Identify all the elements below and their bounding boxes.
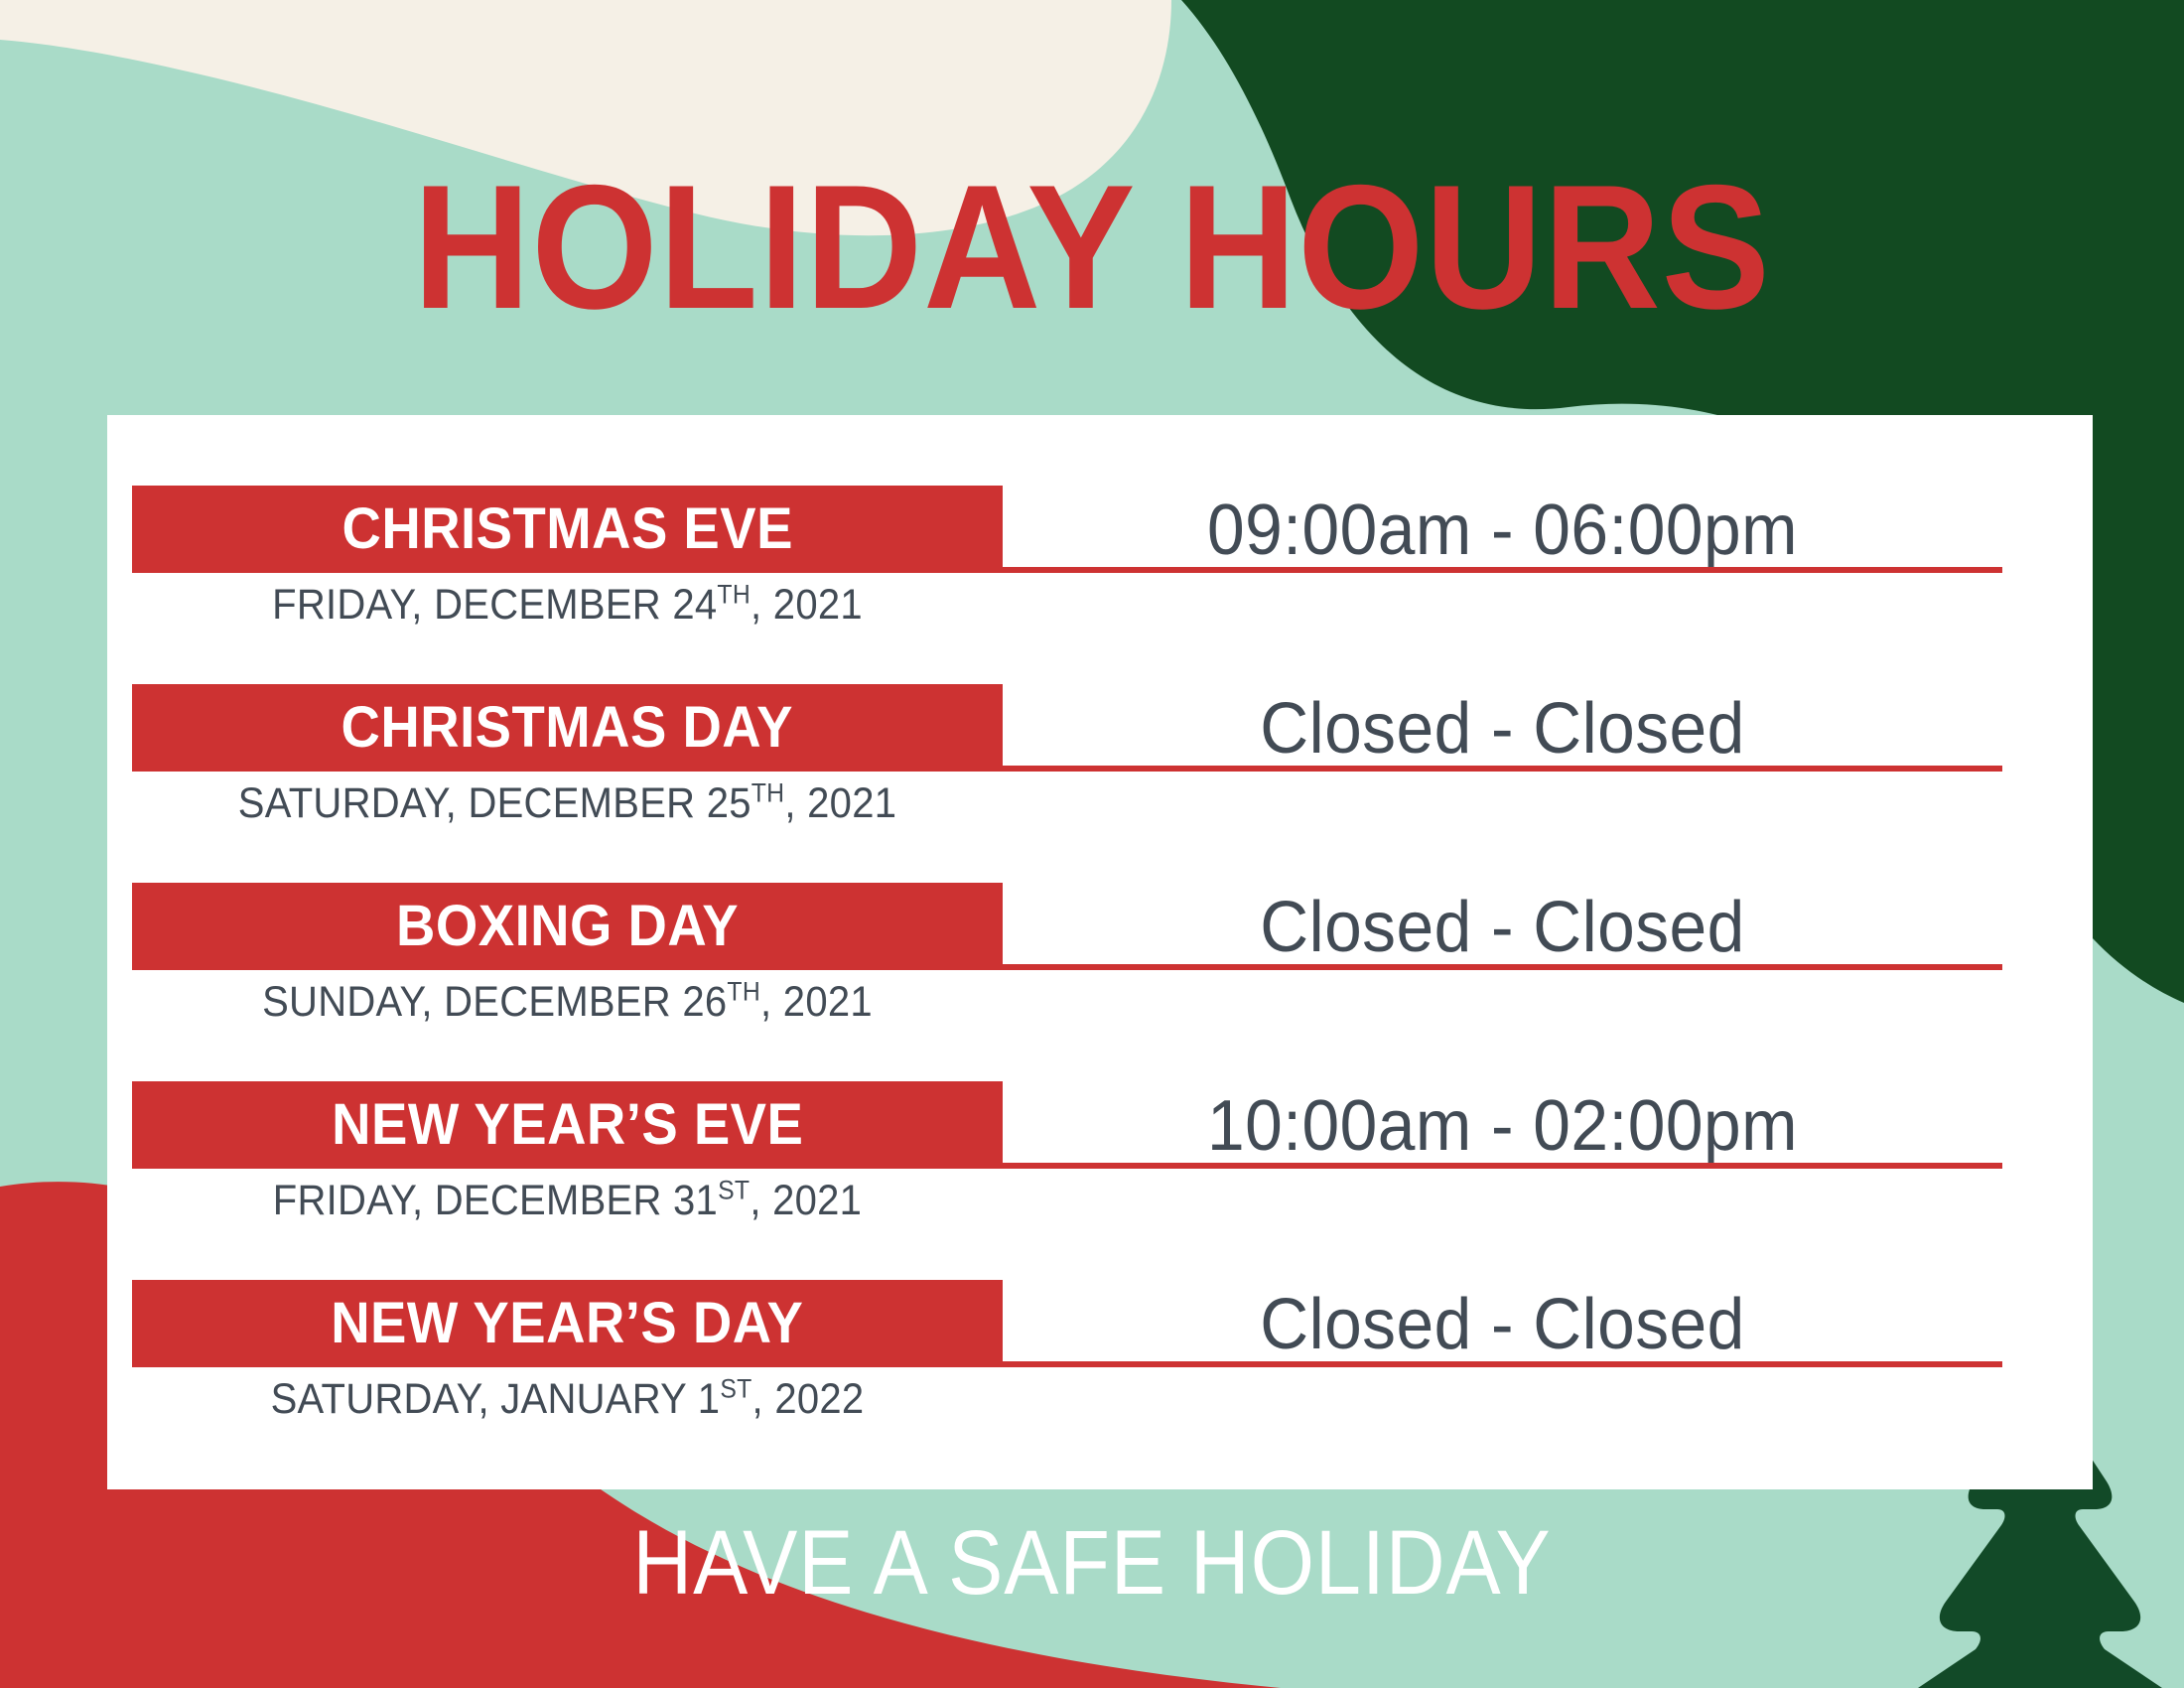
holiday-label-badge: NEW YEAR’S DAY	[132, 1280, 1003, 1367]
holiday-date: SATURDAY, JANUARY 1ST, 2022	[163, 1378, 973, 1421]
table-row: CHRISTMAS EVE FRIDAY, DECEMBER 24TH, 202…	[107, 415, 2093, 614]
date-ordinal-suffix: TH	[751, 778, 785, 808]
row-divider	[1003, 1361, 2002, 1367]
holiday-hours: 09:00am - 06:00pm	[1032, 494, 1973, 566]
date-ordinal-suffix: ST	[718, 1176, 750, 1205]
holiday-hours-cell: 10:00am - 02:00pm	[1003, 1060, 2002, 1172]
row-divider	[1003, 1163, 2002, 1169]
row-divider	[1003, 567, 2002, 573]
holiday-label-badge: CHRISTMAS EVE	[132, 486, 1003, 573]
holiday-name: CHRISTMAS EVE	[341, 500, 792, 558]
holiday-hours-cell: Closed - Closed	[1003, 1259, 2002, 1370]
holiday-name: BOXING DAY	[396, 898, 739, 955]
hours-card: CHRISTMAS EVE FRIDAY, DECEMBER 24TH, 202…	[107, 415, 2093, 1489]
date-ordinal-suffix: ST	[720, 1374, 751, 1404]
row-divider	[1003, 964, 2002, 970]
date-ordinal-suffix: TH	[727, 977, 760, 1007]
holiday-label-badge: NEW YEAR’S EVE	[132, 1081, 1003, 1169]
holiday-hours-cell: Closed - Closed	[1003, 663, 2002, 774]
holiday-hours-poster: HOLIDAY HOURS CHRISTMAS EVE FRIDAY, DECE…	[0, 0, 2184, 1688]
holiday-hours: Closed - Closed	[1032, 693, 1973, 765]
date-prefix: SATURDAY, JANUARY 1	[271, 1375, 721, 1423]
date-year: , 2022	[752, 1375, 865, 1423]
table-row: BOXING DAY SUNDAY, DECEMBER 26TH, 2021 C…	[107, 812, 2093, 1011]
holiday-name: NEW YEAR’S EVE	[332, 1096, 803, 1154]
holiday-hours-cell: 09:00am - 06:00pm	[1003, 465, 2002, 576]
row-divider	[1003, 766, 2002, 772]
holiday-label-badge: CHRISTMAS DAY	[132, 684, 1003, 772]
table-row: CHRISTMAS DAY SATURDAY, DECEMBER 25TH, 2…	[107, 614, 2093, 812]
holiday-hours-cell: Closed - Closed	[1003, 862, 2002, 973]
table-row: NEW YEAR’S DAY SATURDAY, JANUARY 1ST, 20…	[107, 1209, 2093, 1408]
date-ordinal-suffix: TH	[717, 580, 751, 610]
page-title: HOLIDAY HOURS	[87, 159, 2097, 336]
holiday-hours: Closed - Closed	[1032, 1289, 1973, 1360]
holiday-label-badge: BOXING DAY	[132, 883, 1003, 970]
holiday-name: NEW YEAR’S DAY	[331, 1295, 803, 1352]
holiday-hours: Closed - Closed	[1032, 892, 1973, 963]
table-row: NEW YEAR’S EVE FRIDAY, DECEMBER 31ST, 20…	[107, 1011, 2093, 1209]
holiday-name: CHRISTMAS DAY	[341, 699, 793, 757]
holiday-hours: 10:00am - 02:00pm	[1032, 1090, 1973, 1162]
footer-message: HAVE A SAFE HOLIDAY	[109, 1517, 2075, 1609]
